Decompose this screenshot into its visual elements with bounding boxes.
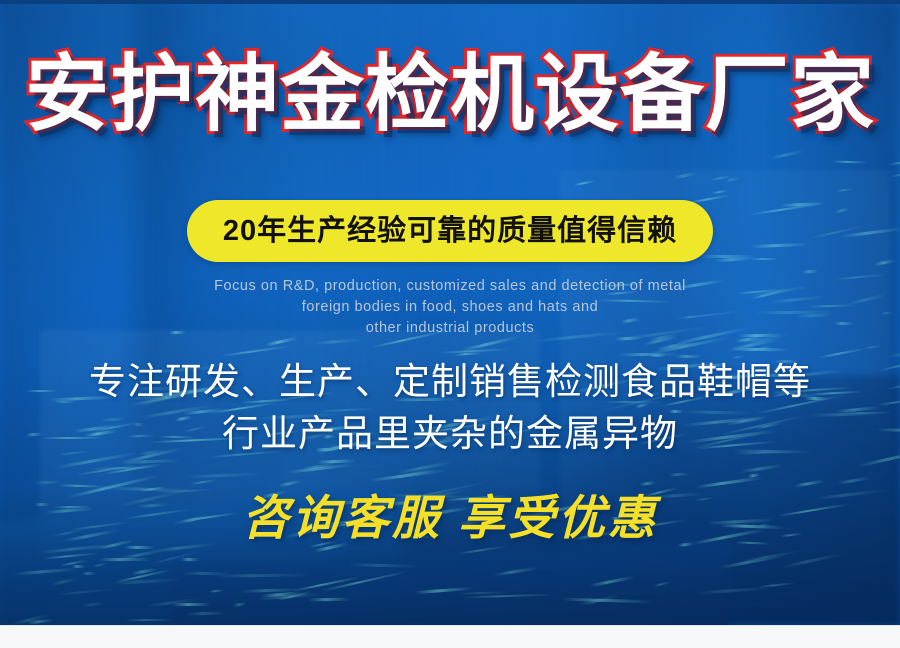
top-edge-strip <box>0 0 900 4</box>
chinese-description: 专注研发、生产、定制销售检测食品鞋帽等 行业产品里夹杂的金属异物 <box>0 356 900 460</box>
english-line-2: foreign bodies in food, shoes and hats a… <box>0 297 900 318</box>
chinese-line-2: 行业产品里夹杂的金属异物 <box>0 408 900 460</box>
promo-banner: 安护神金检机设备厂家 20年生产经验可靠的质量值得信赖 Focus on R&D… <box>0 0 900 625</box>
banner-content: 安护神金检机设备厂家 20年生产经验可靠的质量值得信赖 Focus on R&D… <box>0 0 900 625</box>
experience-badge: 20年生产经验可靠的质量值得信赖 <box>187 200 713 262</box>
chinese-line-1: 专注研发、生产、定制销售检测食品鞋帽等 <box>0 356 900 408</box>
badge-row: 20年生产经验可靠的质量值得信赖 <box>0 200 900 262</box>
english-description: Focus on R&D, production, customized sal… <box>0 276 900 339</box>
banner-headline: 安护神金检机设备厂家 <box>0 44 900 144</box>
page-root: 安护神金检机设备厂家 20年生产经验可靠的质量值得信赖 Focus on R&D… <box>0 0 900 647</box>
english-line-1: Focus on R&D, production, customized sal… <box>0 276 900 297</box>
english-line-3: other industrial products <box>0 318 900 339</box>
page-below-banner <box>0 625 900 648</box>
cta-text[interactable]: 咨询客服 享受优惠 <box>0 487 900 549</box>
